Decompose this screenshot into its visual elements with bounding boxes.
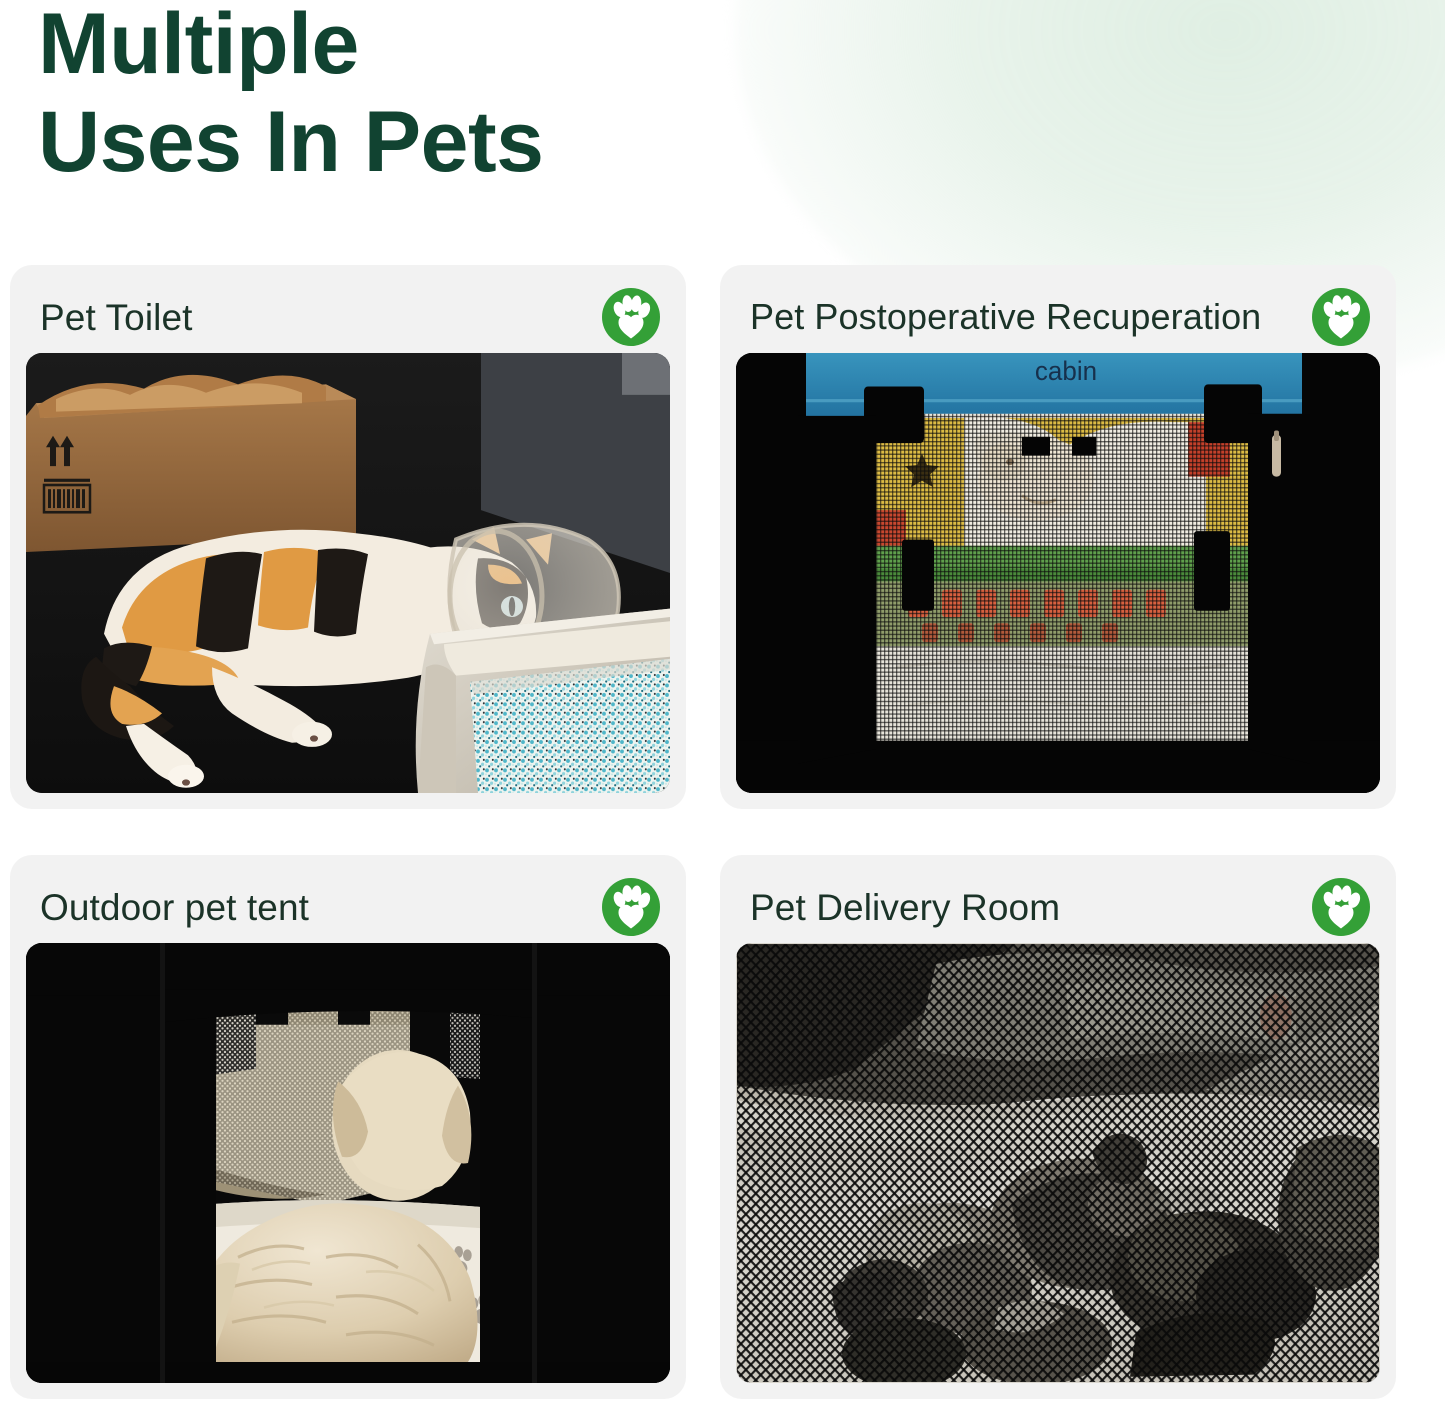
infographic-page: Multiple Uses In Pets Pet Toilet xyxy=(0,0,1445,1412)
page-title-line-1: Multiple xyxy=(38,2,798,86)
card-title-outdoor-pet-tent: Outdoor pet tent xyxy=(40,889,309,926)
photo-calico-cat-litter-box xyxy=(26,353,670,793)
card-title-pet-postoperative-recuperation: Pet Postoperative Recuperation xyxy=(750,299,1261,335)
card-header: Pet Postoperative Recuperation xyxy=(736,281,1380,353)
photo-puppies-behind-mesh xyxy=(736,943,1380,1383)
card-header: Pet Toilet xyxy=(26,281,670,353)
photo-dog-in-pet-tent xyxy=(26,943,670,1383)
paw-print-icon xyxy=(601,287,661,347)
card-header: Pet Delivery Room xyxy=(736,871,1380,943)
card-title-pet-delivery-room: Pet Delivery Room xyxy=(750,889,1060,926)
card-pet-delivery-room[interactable]: Pet Delivery Room xyxy=(720,855,1396,1399)
page-title-line-2: Uses In Pets xyxy=(38,100,798,184)
card-pet-postoperative-recuperation[interactable]: Pet Postoperative Recuperation xyxy=(720,265,1396,809)
card-header: Outdoor pet tent xyxy=(26,871,670,943)
use-case-grid: Pet Toilet xyxy=(10,265,1434,1405)
photo-embedded-text-cabin: cabin xyxy=(1035,356,1097,387)
paw-print-icon xyxy=(601,877,661,937)
paw-print-icon xyxy=(1311,877,1371,937)
paw-print-icon xyxy=(1311,287,1371,347)
card-outdoor-pet-tent[interactable]: Outdoor pet tent xyxy=(10,855,686,1399)
card-title-pet-toilet: Pet Toilet xyxy=(40,299,193,336)
photo-pet-playpen-cabin-banner: cabin xyxy=(736,353,1380,793)
card-pet-toilet[interactable]: Pet Toilet xyxy=(10,265,686,809)
page-title: Multiple Uses In Pets xyxy=(38,2,798,185)
